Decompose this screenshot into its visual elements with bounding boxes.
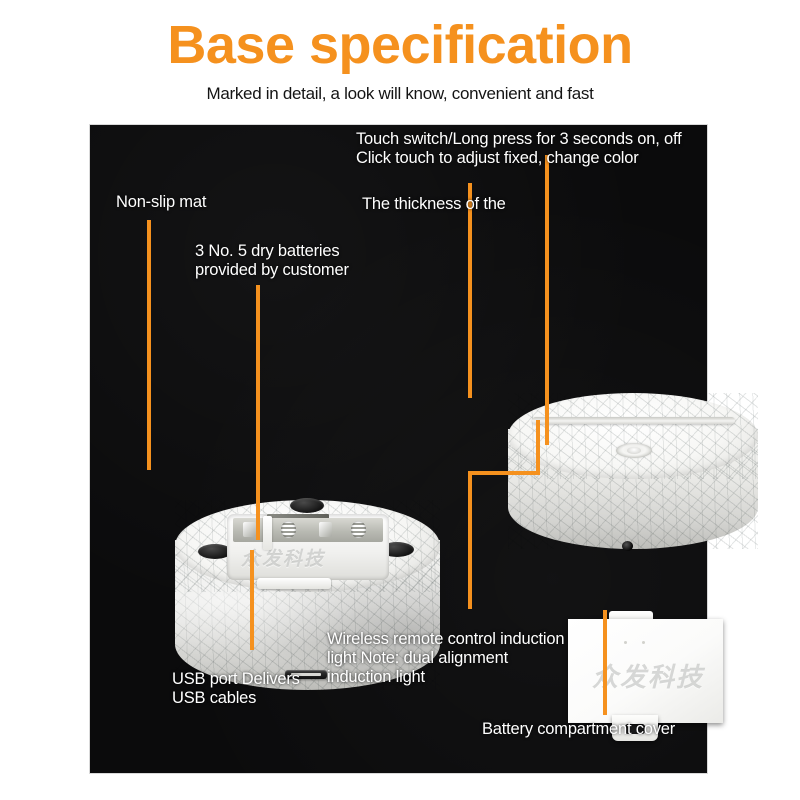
cover-dot: [642, 641, 645, 644]
battery-slot-divider: [263, 516, 272, 550]
leader-line-touch-switch: [545, 155, 549, 445]
battery-contact-plate: [243, 522, 256, 537]
non-slip-foot: [290, 498, 324, 513]
leader-line-induction-lower: [468, 471, 472, 609]
leader-line-thickness: [468, 183, 472, 398]
cover-latch-slot: [257, 578, 331, 589]
cover-dot: [624, 641, 627, 644]
brand-watermark: 众发科技: [592, 657, 704, 694]
touch-switch[interactable]: [616, 443, 652, 458]
battery-contact-plate: [319, 522, 332, 537]
acrylic-panel-slot: [532, 417, 735, 424]
callout-touch-switch: Touch switch/Long press for 3 seconds on…: [356, 130, 681, 168]
callout-thickness: The thickness of the: [362, 195, 506, 214]
product-photo-panel: 众发科技: [90, 125, 707, 773]
page-title: Base specification: [0, 18, 800, 72]
infographic-page: Base specification Marked in detail, a l…: [0, 0, 800, 800]
infrared-sensor-dot: [622, 541, 633, 551]
leader-line-induction-upper: [536, 420, 540, 475]
leader-line-non-slip-mat: [147, 220, 151, 470]
leader-line-battery-cover: [603, 610, 607, 715]
battery-cover-product-image: 众发科技: [568, 611, 723, 736]
leader-line-dry-batteries: [256, 285, 260, 540]
battery-spring-contact: [281, 521, 296, 538]
battery-spring-contact: [351, 521, 366, 538]
callout-non-slip-mat: Non-slip mat: [116, 193, 206, 212]
cover-dot-marks: [624, 641, 662, 645]
callout-usb-port: USB port Delivers USB cables: [172, 670, 300, 708]
callout-wireless-induction: Wireless remote control induction light …: [327, 630, 564, 687]
callout-dry-batteries: 3 No. 5 dry batteries provided by custom…: [195, 242, 349, 280]
page-subtitle: Marked in detail, a look will know, conv…: [0, 84, 800, 104]
callout-battery-cover: Battery compartment cover: [482, 720, 675, 739]
open-base-top-face: 众发科技: [175, 500, 440, 592]
cover-plate: 众发科技: [568, 619, 723, 723]
leader-line-induction-elbow: [468, 471, 540, 475]
leader-line-usb-port: [250, 550, 254, 650]
